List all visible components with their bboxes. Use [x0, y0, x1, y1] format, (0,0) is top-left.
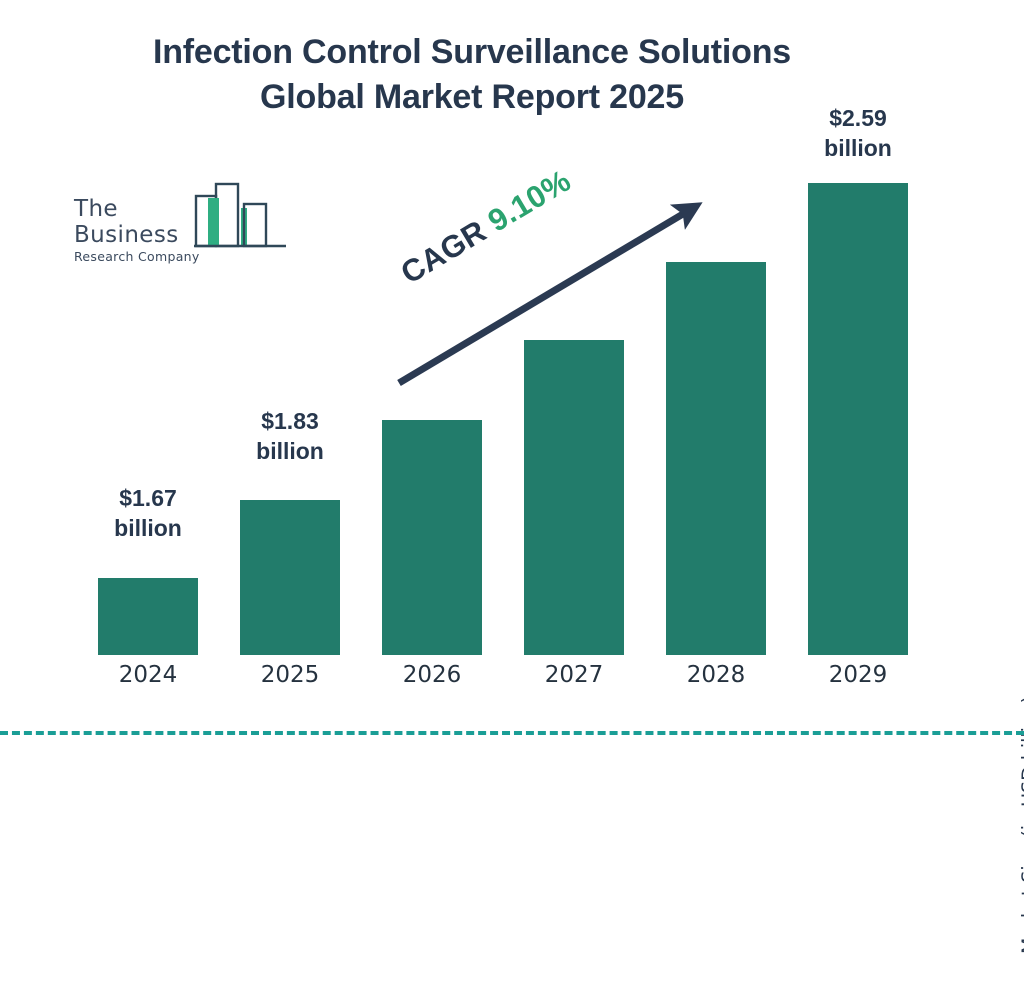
bottom-divider	[0, 731, 1024, 735]
bar-value-amount-2024: $1.67	[119, 485, 177, 511]
x-axis-label-2028: 2028	[666, 662, 766, 688]
bar-value-label-2025: $1.83 billion	[220, 406, 360, 466]
plot-area: $1.67 billion 2024 $1.83 billion 2025 20…	[0, 0, 1024, 768]
x-axis-label-2029: 2029	[808, 662, 908, 688]
bar-value-unit-2029: billion	[824, 135, 892, 161]
bar-2026[interactable]	[382, 420, 482, 655]
x-axis-label-2027: 2027	[524, 662, 624, 688]
bar-2024[interactable]	[98, 578, 198, 655]
bar-2029[interactable]	[808, 183, 908, 655]
y-axis-title: Market Size (in USD billion)	[1018, 660, 1024, 990]
chart-page: Infection Control Surveillance Solutions…	[0, 0, 1024, 768]
bar-value-amount-2025: $1.83	[261, 408, 319, 434]
bar-2028[interactable]	[666, 262, 766, 655]
bar-2027[interactable]	[524, 340, 624, 655]
bar-value-label-2029: $2.59 billion	[788, 103, 928, 163]
bar-value-unit-2025: billion	[256, 438, 324, 464]
x-axis-label-2025: 2025	[240, 662, 340, 688]
x-axis-label-2024: 2024	[98, 662, 198, 688]
bar-value-unit-2024: billion	[114, 515, 182, 541]
x-axis-label-2026: 2026	[382, 662, 482, 688]
bar-2025[interactable]	[240, 500, 340, 655]
bar-value-label-2024: $1.67 billion	[78, 483, 218, 543]
bar-value-amount-2029: $2.59	[829, 105, 887, 131]
